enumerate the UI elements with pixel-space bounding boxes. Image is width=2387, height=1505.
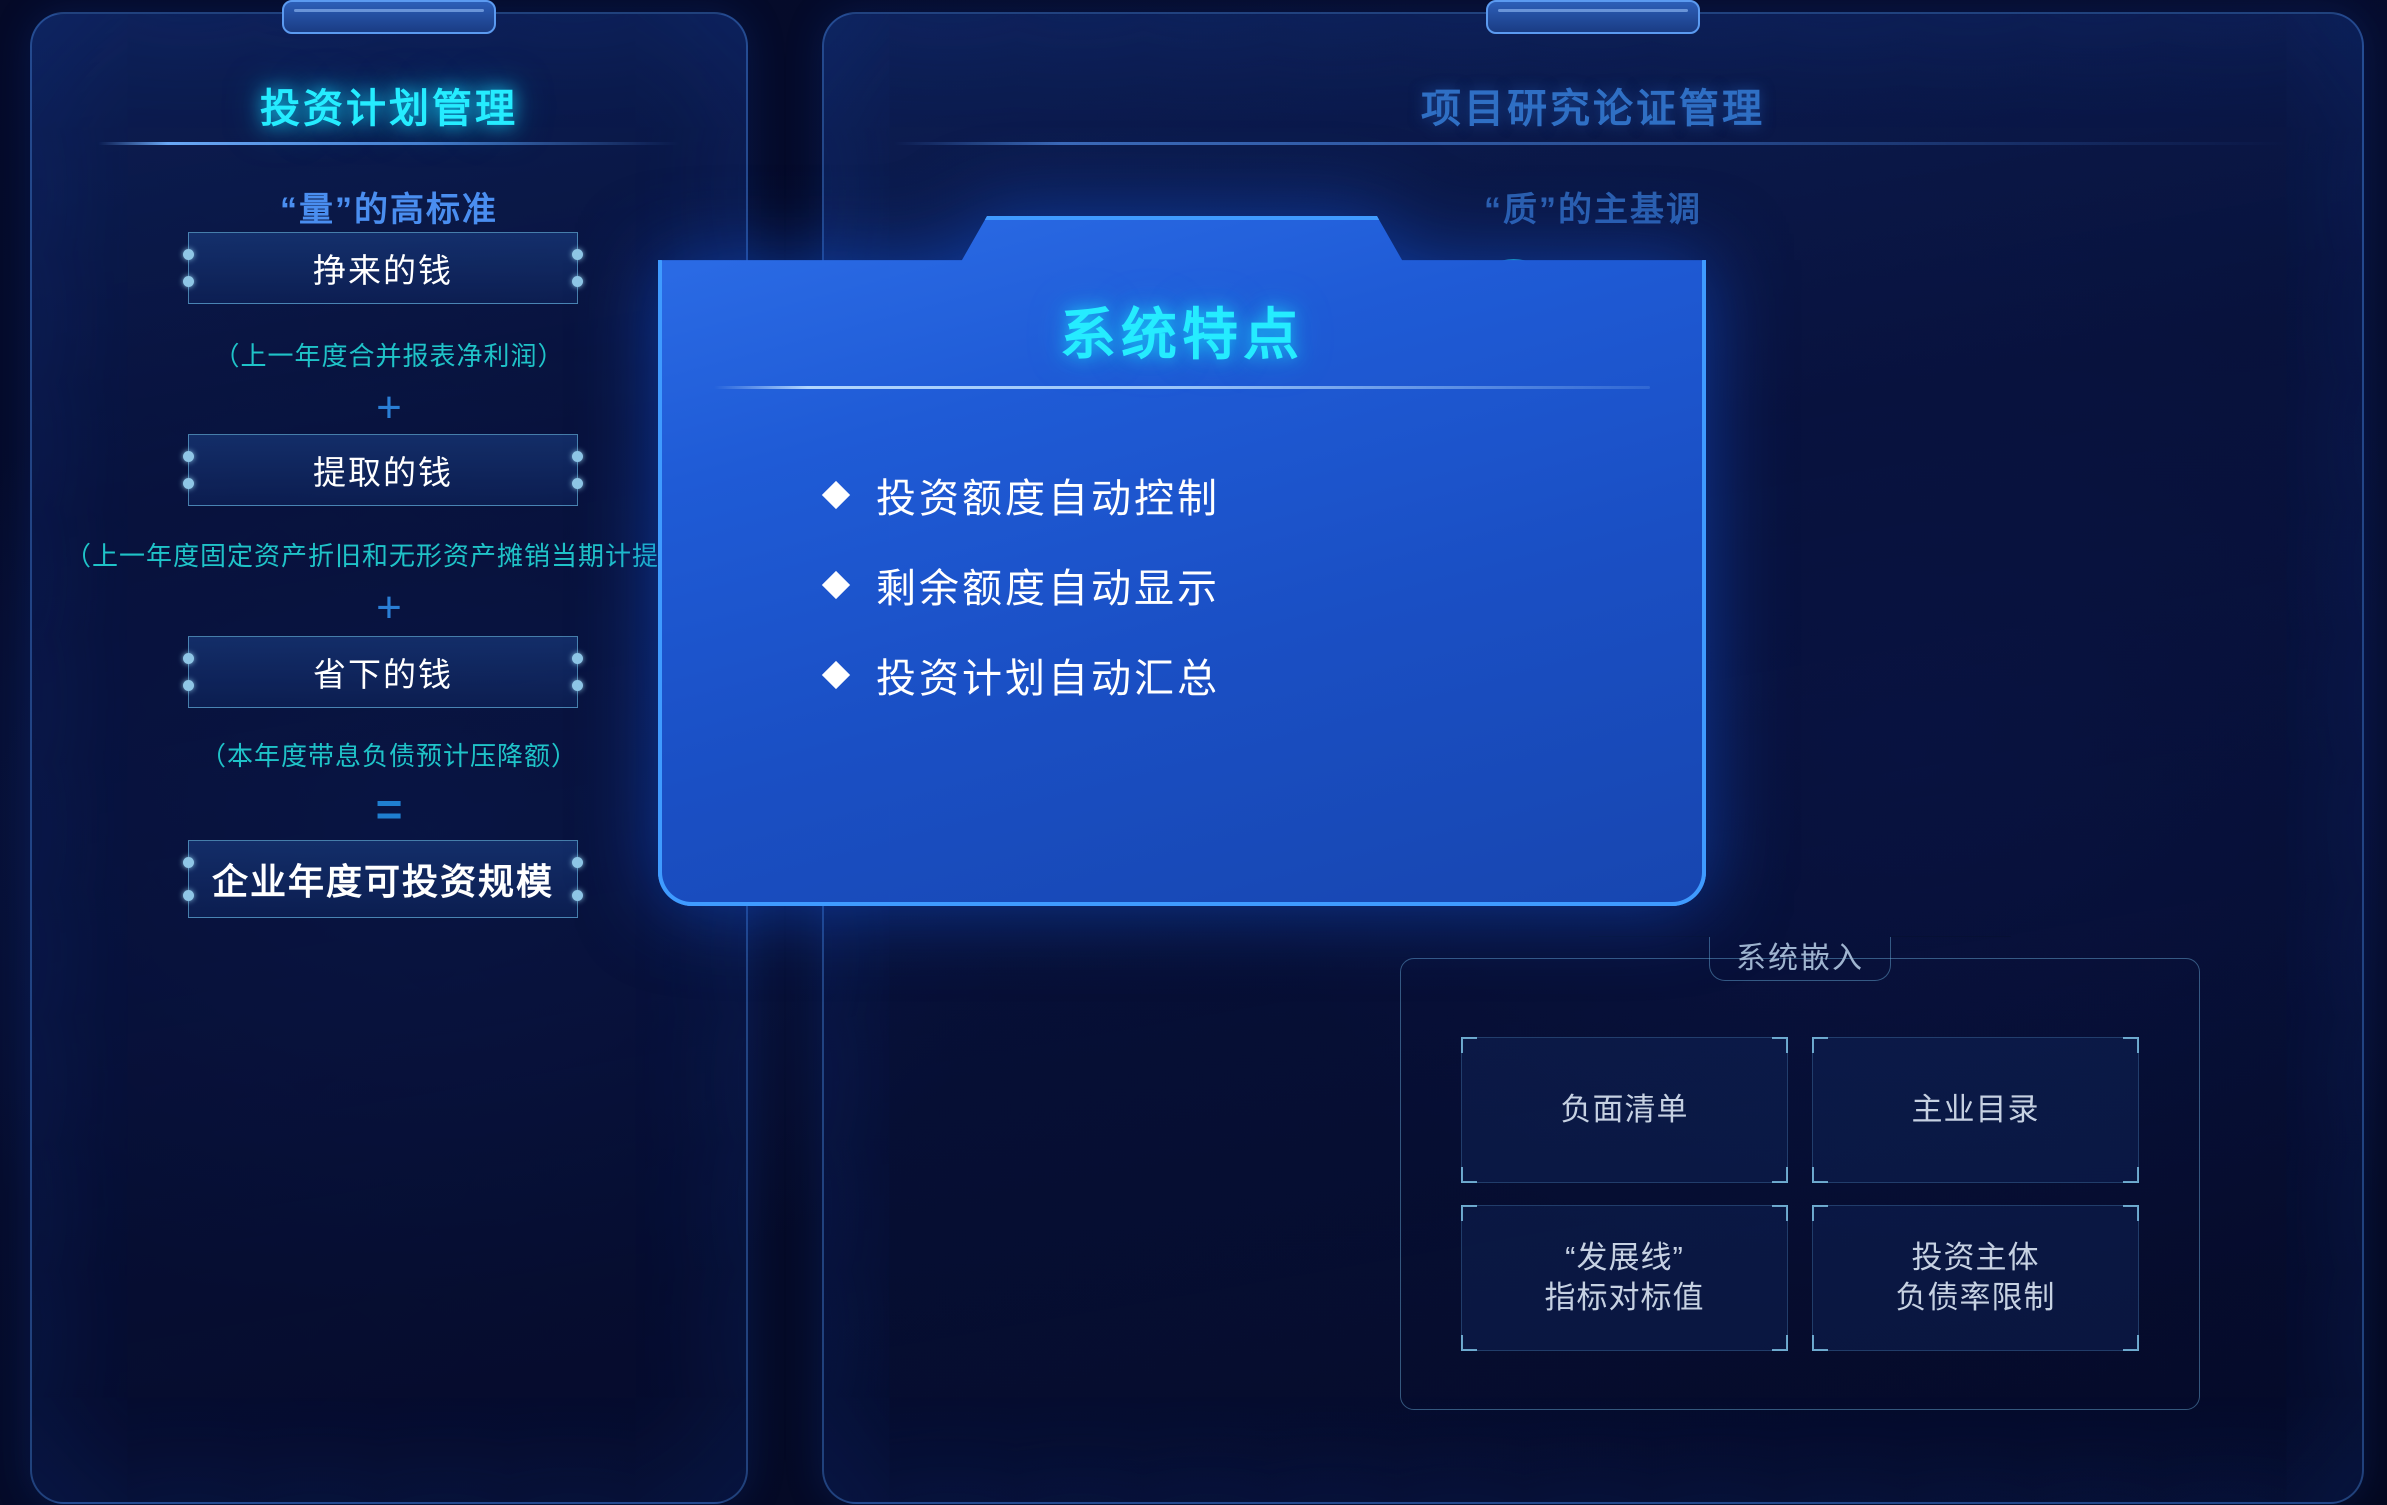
embed-cell-label: “发展线”指标对标值 [1545,1238,1705,1317]
flow-operator-plus-2: + [32,586,746,630]
corner-mark [1461,1205,1477,1221]
left-title-divider [98,142,680,145]
flow-operator-plus-1: + [32,386,746,430]
corner-mark [1772,1167,1788,1183]
system-embed-legend: 系统嵌入 [1709,937,1891,981]
flow-box-saved-money[interactable]: 省下的钱 [188,636,578,708]
flow-box-label: 省下的钱 [313,648,453,696]
handle-dot [183,857,194,868]
modal-feature-label: 投资额度自动控制 [876,466,1220,524]
corner-mark [1461,1037,1477,1053]
flow-box-annual-investment-scale[interactable]: 企业年度可投资规模 [188,840,578,918]
embed-cell-main-business-catalog[interactable]: 主业目录 [1812,1037,2139,1183]
corner-mark [2123,1335,2139,1351]
handle-dot [183,680,194,691]
corner-mark [1461,1167,1477,1183]
handle-dot [572,653,583,664]
handle-dot [183,653,194,664]
handle-dot [183,478,194,489]
modal-feature-list: 投资额度自动控制 剩余额度自动显示 投资计划自动汇总 [826,466,1646,704]
corner-mark [2123,1167,2139,1183]
left-panel-title: 投资计划管理 [32,76,746,134]
flow-note-withdrawn-money: （上一年度固定资产折旧和无形资产摊销当期计提额） [32,536,746,573]
flow-note-saved-money: （本年度带息负债预计压降额） [32,736,746,773]
left-panel-subtitle: “量”的高标准 [32,182,746,231]
handle-dot [572,478,583,489]
investment-plan-panel: 投资计划管理 “量”的高标准 挣来的钱 （上一年度合并报表净利润） + 提取的钱… [30,12,748,1504]
modal-feature-item[interactable]: 投资计划自动汇总 [826,646,1646,704]
flow-box-earned-money[interactable]: 挣来的钱 [188,232,578,304]
corner-mark [1772,1205,1788,1221]
handle-dot [183,890,194,901]
embed-cell-label: 投资主体负债率限制 [1896,1238,2056,1317]
modal-feature-label: 剩余额度自动显示 [876,556,1220,614]
handle-dot [183,451,194,462]
system-embed-group: 系统嵌入 负面清单 主业目录 “发展线”指标对标值 [1400,958,2200,1410]
embed-cell-development-line-benchmark[interactable]: “发展线”指标对标值 [1461,1205,1788,1351]
modal-title: 系统特点 [658,290,1706,371]
handle-dot [572,680,583,691]
corner-mark [2123,1205,2139,1221]
system-embed-grid: 负面清单 主业目录 “发展线”指标对标值 投资主体负 [1461,1037,2139,1351]
flow-box-label: 提取的钱 [313,446,453,494]
handle-dot [572,249,583,260]
handle-dot [183,249,194,260]
modal-feature-item[interactable]: 投资额度自动控制 [826,466,1646,524]
modal-feature-item[interactable]: 剩余额度自动显示 [826,556,1646,614]
corner-mark [2123,1037,2139,1053]
corner-mark [1812,1167,1828,1183]
right-panel-title: 项目研究论证管理 [824,76,2362,134]
flow-box-label: 挣来的钱 [313,244,453,292]
corner-mark [1461,1335,1477,1351]
panel-notch-right [1486,0,1700,34]
embed-cell-label: 主业目录 [1912,1090,2040,1130]
handle-dot [572,451,583,462]
panel-notch-left [282,0,496,34]
flow-operator-equals: = [32,786,746,832]
diamond-bullet-icon [822,661,850,689]
handle-dot [572,890,583,901]
flow-box-label: 企业年度可投资规模 [212,853,554,905]
embed-cell-investor-debt-ratio-limit[interactable]: 投资主体负债率限制 [1812,1205,2139,1351]
embed-cell-negative-list[interactable]: 负面清单 [1461,1037,1788,1183]
corner-mark [1772,1037,1788,1053]
modal-divider [714,386,1650,389]
flow-box-withdrawn-money[interactable]: 提取的钱 [188,434,578,506]
handle-dot [572,276,583,287]
corner-mark [1812,1037,1828,1053]
diamond-bullet-icon [822,481,850,509]
corner-mark [1812,1335,1828,1351]
corner-mark [1772,1335,1788,1351]
handle-dot [572,857,583,868]
flow-note-earned-money: （上一年度合并报表净利润） [32,336,746,373]
slide-canvas: 投资计划管理 “量”的高标准 挣来的钱 （上一年度合并报表净利润） + 提取的钱… [0,0,2387,1505]
embed-cell-label: 负面清单 [1561,1090,1689,1130]
corner-mark [1812,1205,1828,1221]
right-title-divider [894,142,2292,145]
handle-dot [183,276,194,287]
system-features-modal[interactable]: 系统特点 投资额度自动控制 剩余额度自动显示 投资计划自动汇总 [658,216,1706,906]
modal-feature-label: 投资计划自动汇总 [876,646,1220,704]
diamond-bullet-icon [822,571,850,599]
